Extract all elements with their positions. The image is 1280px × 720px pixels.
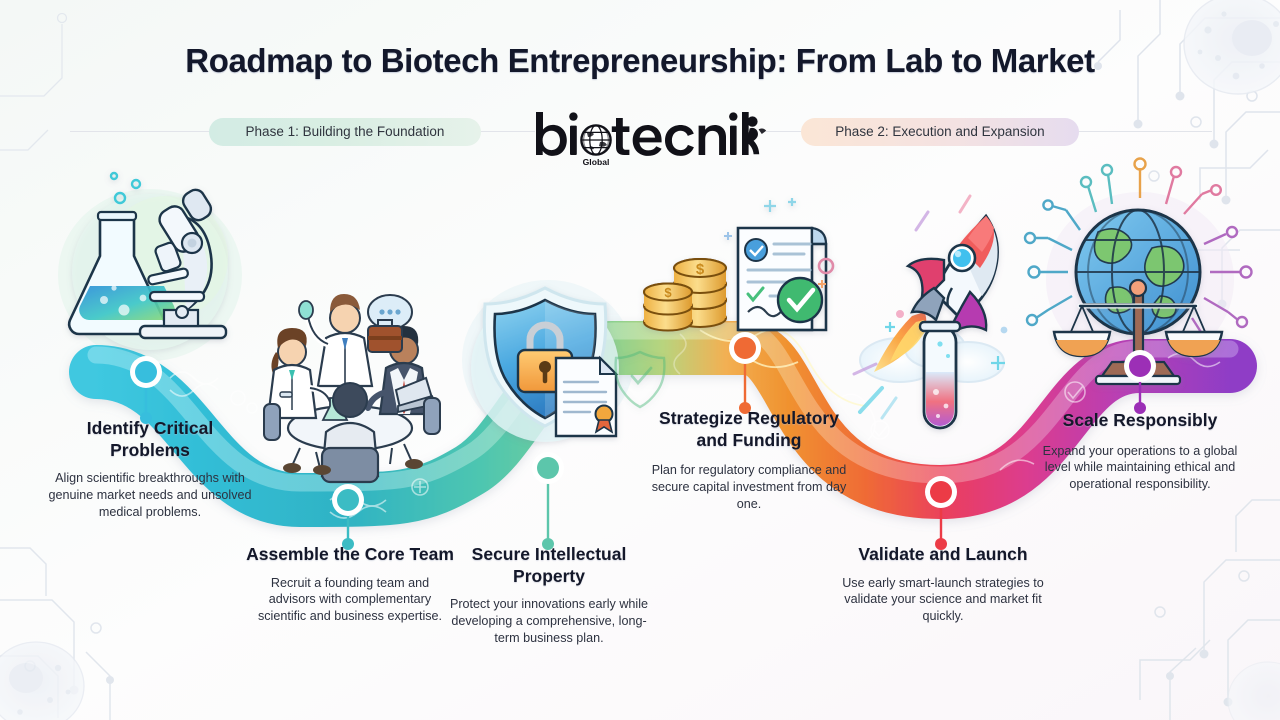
phase-rule-right — [1076, 131, 1212, 132]
node-marker-6[interactable] — [1124, 350, 1156, 414]
step-desc-2: Recruit a founding team and advisors wit… — [246, 575, 454, 625]
step-title-5: Validate and Launch — [840, 544, 1046, 566]
shield-lock-certificate-icon — [471, 288, 664, 442]
step-desc-1: Align scientific breakthroughs with genu… — [46, 470, 254, 520]
cloud-shape — [860, 328, 1004, 382]
circuit-node-top-right — [1094, 62, 1231, 309]
globe-icon — [581, 125, 610, 154]
phase-rule-left — [70, 131, 212, 132]
node-markers — [130, 332, 1156, 550]
step-text-2: Assemble the Core Team Recruit a foundin… — [246, 544, 454, 625]
laptop-icon — [396, 378, 436, 412]
cell-illustration-bottom-right — [1228, 662, 1280, 720]
infographic-canvas: Roadmap to Biotech Entrepreneurship: Fro… — [0, 0, 1280, 720]
step-text-3: Secure Intellectual Property Protect you… — [444, 544, 654, 646]
briefcase-icon — [368, 320, 402, 352]
pastel-glow — [58, 189, 1234, 440]
step-desc-6: Expand your operations to a global level… — [1040, 443, 1240, 493]
node-marker-5[interactable] — [925, 476, 957, 550]
node-marker-2[interactable] — [332, 484, 364, 550]
svg-text:$: $ — [664, 285, 672, 300]
step-text-5: Validate and Launch Use early smart-laun… — [840, 544, 1046, 625]
step-text-6: Scale Responsibly Expand your operations… — [1040, 410, 1240, 493]
node-marker-1[interactable] — [130, 356, 162, 424]
globe-scales-icon — [1025, 159, 1252, 385]
phase-badge-2[interactable]: Phase 2: Execution and Expansion — [801, 118, 1079, 146]
human-figure-icon — [742, 112, 766, 155]
flask-microscope-icon — [69, 173, 228, 350]
step-title-4: Strategize Regulatory and Funding — [645, 408, 853, 451]
network-nodes — [1025, 159, 1252, 349]
phase-rule-mid — [481, 131, 535, 132]
page-title: Roadmap to Biotech Entrepreneurship: Fro… — [0, 42, 1280, 80]
node-marker-3[interactable] — [532, 452, 564, 550]
phase-rule-mid2 — [766, 131, 804, 132]
team-meeting-icon — [264, 294, 440, 482]
rocket-testtube-icon — [854, 196, 1007, 428]
circuit-trace-bottom-right — [1140, 500, 1280, 720]
step-title-3: Secure Intellectual Property — [444, 544, 654, 587]
speech-bubble-icon — [368, 295, 412, 336]
coins-document-icon: $ $ — [644, 198, 833, 331]
step-desc-5: Use early smart-launch strategies to val… — [840, 575, 1046, 625]
svg-text:$: $ — [696, 261, 705, 278]
step-text-1: Identify Critical Problems Align scienti… — [46, 418, 254, 520]
brand-tagline: Global — [583, 157, 610, 167]
circuit-trace-bottom-left — [0, 548, 110, 720]
brand-logo[interactable]: Global — [530, 108, 770, 170]
step-title-6: Scale Responsibly — [1040, 410, 1240, 432]
step-text-4: Strategize Regulatory and Funding Plan f… — [645, 408, 853, 512]
step-title-2: Assemble the Core Team — [246, 544, 454, 566]
phase-badge-1[interactable]: Phase 1: Building the Foundation — [209, 118, 481, 146]
step-desc-4: Plan for regulatory compliance and secur… — [645, 462, 853, 512]
node-marker-4[interactable] — [729, 332, 761, 414]
step-desc-3: Protect your innovations early while dev… — [444, 596, 654, 646]
cell-illustration-bottom-left — [0, 642, 84, 720]
step-title-1: Identify Critical Problems — [46, 418, 254, 461]
